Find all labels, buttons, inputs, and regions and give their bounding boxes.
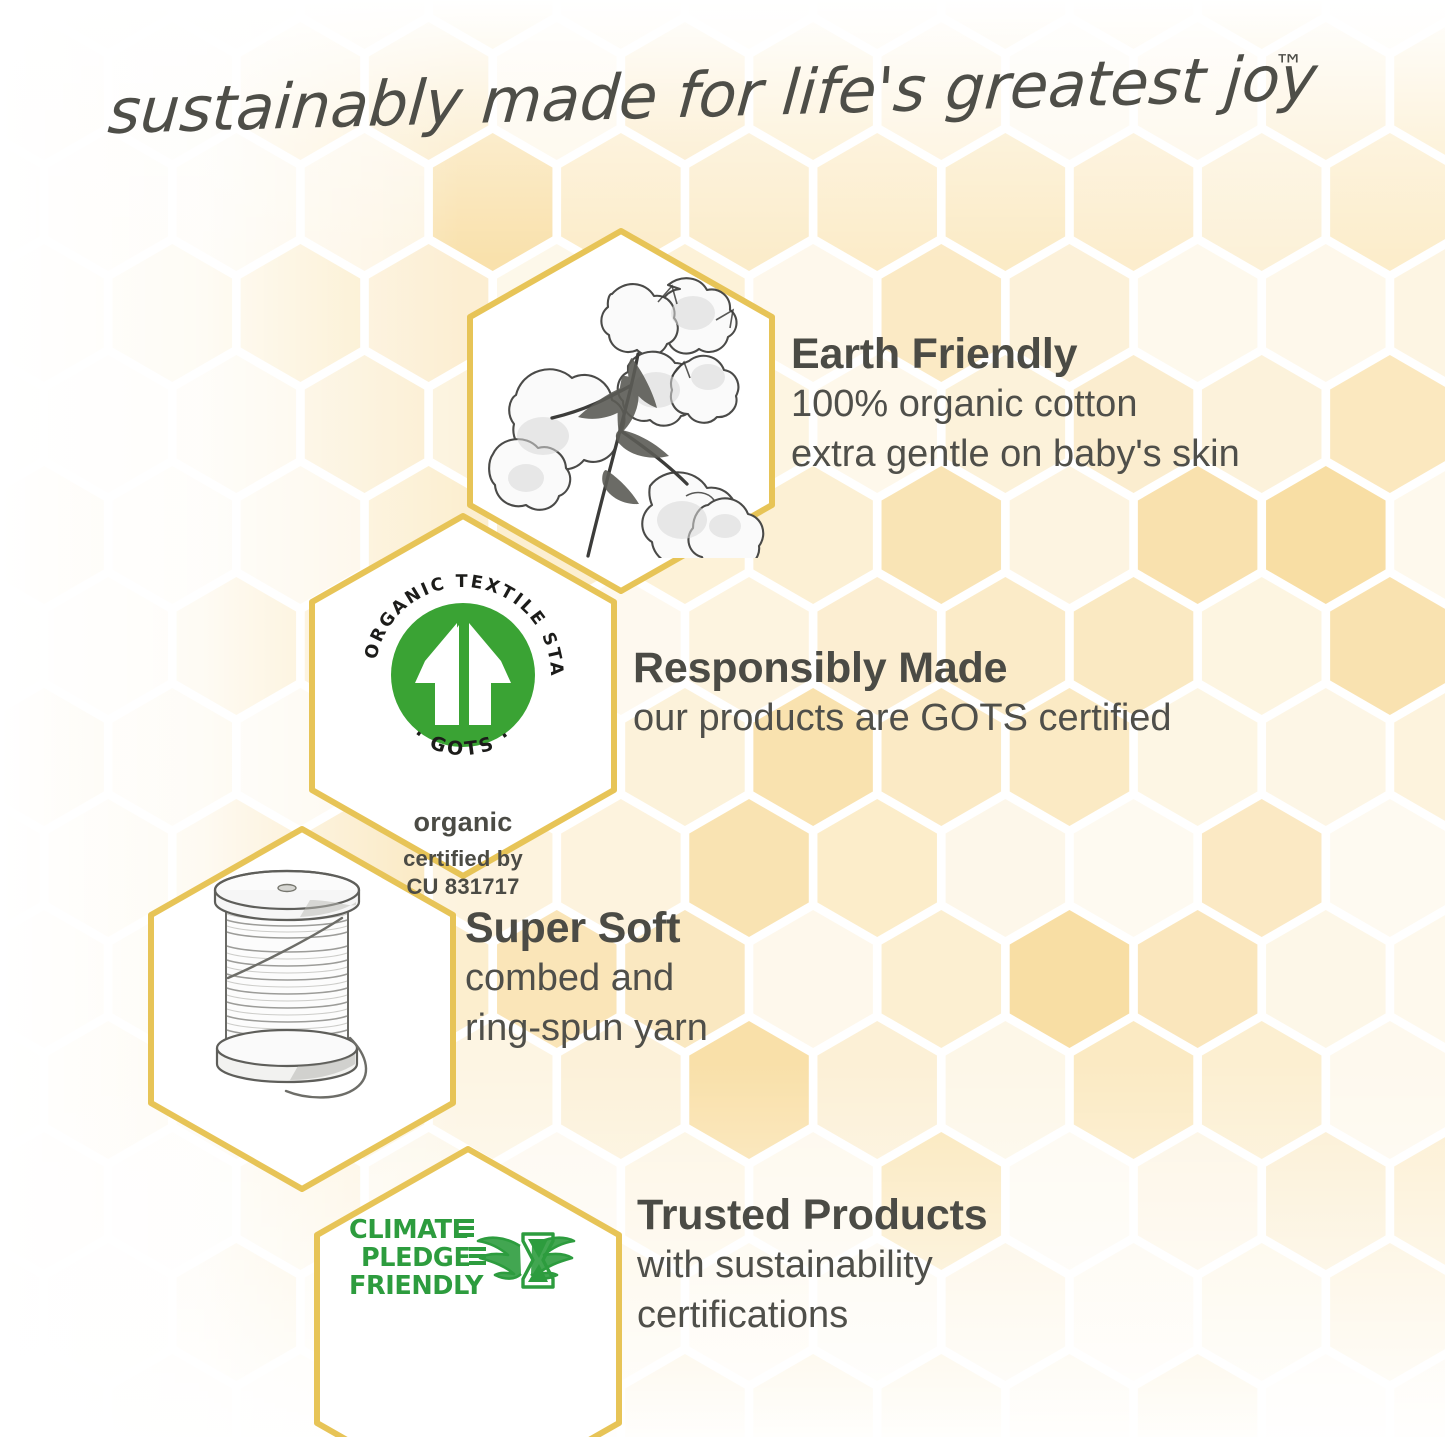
cpf-line-3: FRIENDLY bbox=[349, 1271, 484, 1301]
feature-text-super-soft: Super Soft combed and ring-spun yarn bbox=[465, 905, 708, 1053]
gots-certification-icon: GLOBAL ORGANIC TEXTILE STANDARD · GOTS ·… bbox=[298, 555, 628, 900]
feature-title: Responsibly Made bbox=[633, 645, 1172, 691]
feature-title: Earth Friendly bbox=[791, 331, 1240, 377]
headline-text: sustainably made for life's greatest joy bbox=[105, 46, 1320, 142]
winged-hourglass-icon bbox=[478, 1234, 574, 1287]
feature-line: with sustainability bbox=[637, 1241, 987, 1290]
gots-certifier-code: CU 831717 bbox=[298, 874, 628, 900]
feature-line: certifications bbox=[637, 1291, 987, 1340]
feature-title: Super Soft bbox=[465, 905, 708, 951]
gots-certified-by-label: certified by bbox=[298, 846, 628, 872]
feature-title: Trusted Products bbox=[637, 1192, 987, 1238]
feature-text-responsibly-made: Responsibly Made our products are GOTS c… bbox=[633, 645, 1172, 744]
feature-line: extra gentle on baby's skin bbox=[791, 430, 1240, 479]
feature-line: combed and bbox=[465, 954, 708, 1003]
feature-text-trusted-products: Trusted Products with sustainability cer… bbox=[637, 1192, 987, 1340]
trademark-symbol: ™ bbox=[1274, 49, 1304, 84]
climate-pledge-friendly-icon: CLIMATE PLEDGE FRIENDLY bbox=[348, 1212, 580, 1325]
cpf-line-2: PLEDGE bbox=[361, 1243, 470, 1273]
page-headline: sustainably made for life's greatest joy… bbox=[0, 46, 1445, 142]
feature-line: ring-spun yarn bbox=[465, 1004, 708, 1053]
feature-line: our products are GOTS certified bbox=[633, 694, 1172, 743]
cpf-line-1: CLIMATE bbox=[349, 1215, 469, 1245]
infographic-canvas: sustainably made for life's greatest joy… bbox=[0, 0, 1445, 1437]
gots-organic-label: organic bbox=[298, 807, 628, 838]
feature-text-earth-friendly: Earth Friendly 100% organic cotton extra… bbox=[791, 331, 1240, 479]
feature-line: 100% organic cotton bbox=[791, 380, 1240, 429]
